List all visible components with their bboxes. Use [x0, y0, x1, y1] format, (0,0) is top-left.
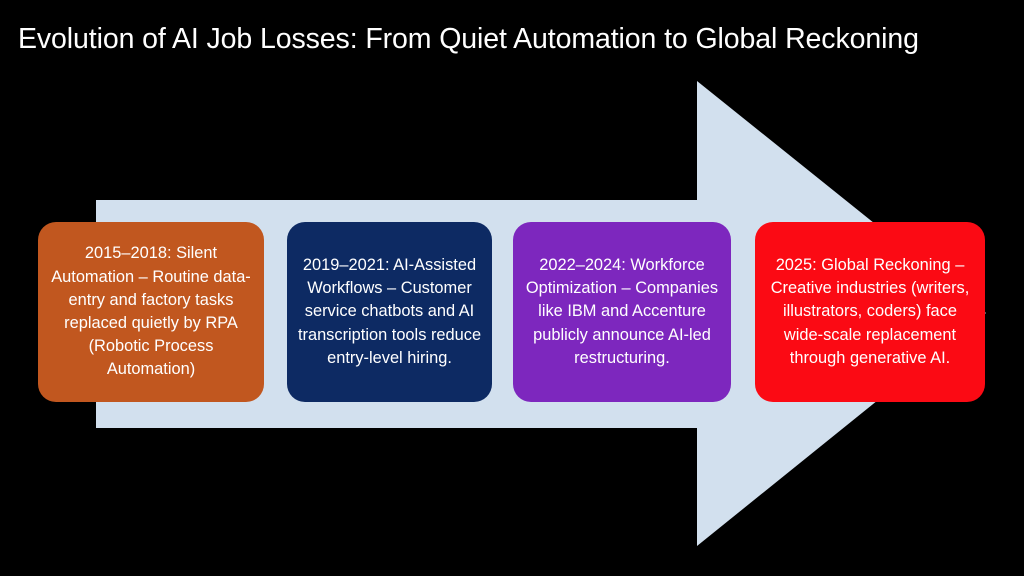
stage-box-4[interactable]: 2025: Global Reckoning – Creative indust… — [755, 222, 985, 402]
slide-canvas: Evolution of AI Job Losses: From Quiet A… — [0, 0, 1024, 576]
stage-box-4-label: 2025: Global Reckoning – Creative indust… — [764, 254, 976, 370]
stage-box-2-label: 2019–2021: AI-Assisted Workflows – Custo… — [296, 254, 483, 370]
stage-box-group: 2015–2018: Silent Automation – Routine d… — [0, 0, 1024, 576]
stage-box-3-label: 2022–2024: Workforce Optimization – Comp… — [522, 254, 722, 370]
stage-box-2[interactable]: 2019–2021: AI-Assisted Workflows – Custo… — [287, 222, 492, 402]
stage-box-3[interactable]: 2022–2024: Workforce Optimization – Comp… — [513, 222, 731, 402]
stage-box-1[interactable]: 2015–2018: Silent Automation – Routine d… — [38, 222, 264, 402]
stage-box-1-label: 2015–2018: Silent Automation – Routine d… — [47, 242, 255, 381]
